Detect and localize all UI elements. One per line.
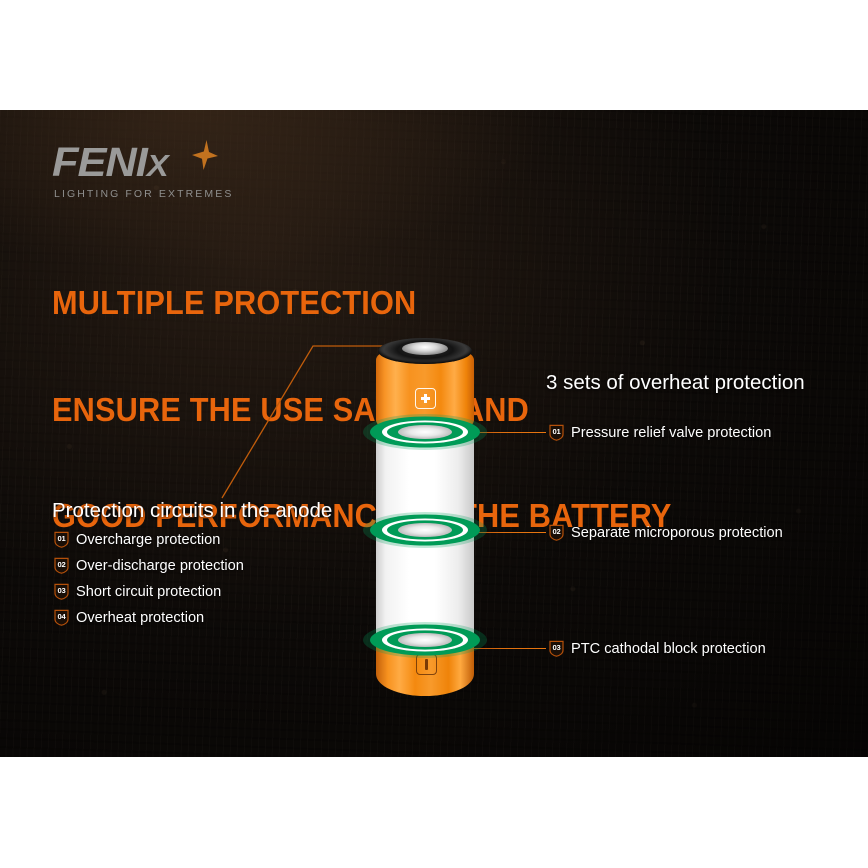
shield-badge-icon: 01: [54, 531, 69, 548]
shield-badge-number: 03: [549, 640, 564, 657]
list-item: 02 Over-discharge protection: [54, 557, 244, 574]
shield-badge-icon: 02: [54, 557, 69, 574]
list-item: 03 Short circuit protection: [54, 583, 221, 600]
glow-ring-middle: [362, 508, 488, 552]
star-sparkle-icon: [192, 140, 218, 170]
list-item-label: Short circuit protection: [76, 584, 221, 600]
shield-badge-icon: 02: [549, 524, 564, 541]
right-section-heading: 3 sets of overheat protection: [546, 371, 805, 395]
list-item: 03 PTC cathodal block protection: [549, 640, 766, 657]
battery-contact-button: [402, 342, 448, 355]
list-item-label: Over-discharge protection: [76, 558, 244, 574]
list-item-label: Overheat protection: [76, 610, 204, 626]
list-item-label: PTC cathodal block protection: [571, 641, 766, 657]
shield-badge-icon: 03: [54, 583, 69, 600]
logo-wordmark: FENIX: [52, 142, 168, 186]
logo-tagline: LIGHTING FOR EXTREMES: [54, 188, 233, 200]
poster-canvas: FENIX LIGHTING FOR EXTREMES MULTIPLE PRO…: [0, 0, 868, 868]
battery-illustration: [376, 338, 474, 698]
logo-wordmark-tail: X: [147, 148, 168, 183]
list-item-label: Separate microporous protection: [571, 525, 783, 541]
shield-badge-number: 02: [54, 557, 69, 574]
headline-line-1: MULTIPLE PROTECTION: [52, 285, 672, 321]
shield-badge-icon: 01: [549, 424, 564, 441]
shield-badge-number: 02: [549, 524, 564, 541]
fenix-logo: FENIX LIGHTING FOR EXTREMES: [52, 142, 292, 200]
glow-ring-top: [362, 410, 488, 454]
shield-badge-icon: 04: [54, 609, 69, 626]
battery-plus-icon: [415, 388, 436, 409]
glow-ring-bottom: [362, 618, 488, 662]
left-section-heading: Protection circuits in the anode: [52, 499, 332, 523]
list-item: 01 Overcharge protection: [54, 531, 220, 548]
list-item: 02 Separate microporous protection: [549, 524, 783, 541]
shield-badge-number: 01: [549, 424, 564, 441]
list-item: 04 Overheat protection: [54, 609, 204, 626]
shield-badge-number: 01: [54, 531, 69, 548]
shield-badge-number: 04: [54, 609, 69, 626]
shield-badge-number: 03: [54, 583, 69, 600]
list-item: 01 Pressure relief valve protection: [549, 424, 771, 441]
logo-wordmark-main: FENI: [52, 139, 147, 185]
shield-badge-icon: 03: [549, 640, 564, 657]
list-item-label: Overcharge protection: [76, 532, 220, 548]
list-item-label: Pressure relief valve protection: [571, 425, 771, 441]
